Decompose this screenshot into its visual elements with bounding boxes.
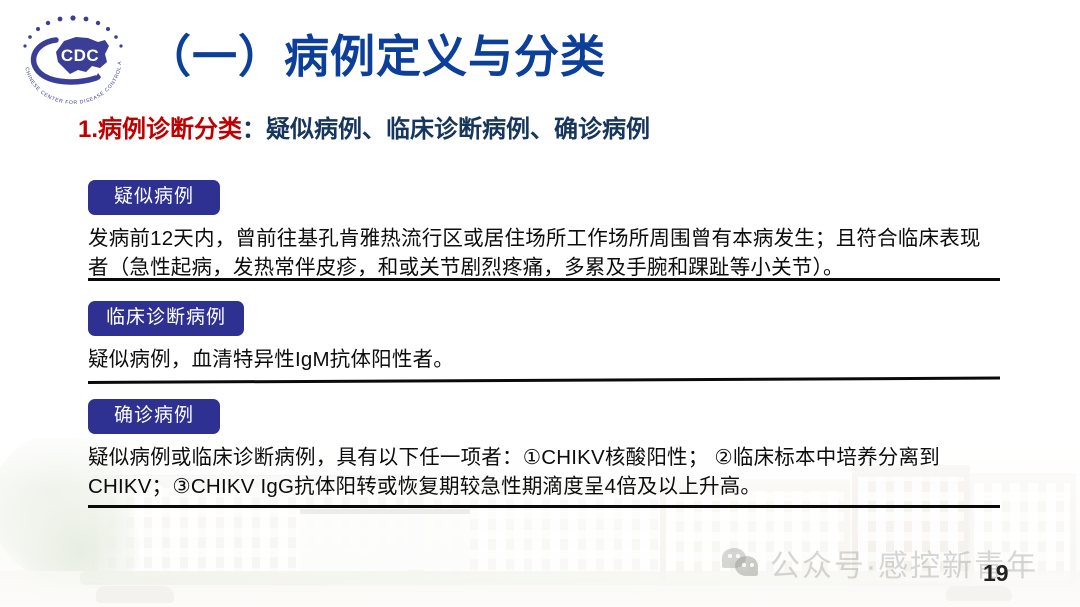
case-block-clinical: 临床诊断病例 疑似病例，血清特异性IgM抗体阳性者。 <box>88 301 1000 374</box>
photo-hedge <box>80 571 900 585</box>
wechat-icon <box>722 547 760 579</box>
subtitle-blue-part: ：疑似病例、临床诊断病例、确诊病例 <box>242 116 650 143</box>
page-number: 19 <box>983 560 1009 587</box>
body-clinical-case: 疑似病例，血清特异性IgM抗体阳性者。 <box>88 345 1000 374</box>
svg-text:CDC: CDC <box>61 46 99 65</box>
photo-entrance-canopy <box>300 509 470 570</box>
subtitle-red-part: 1.病例诊断分类 <box>78 116 242 143</box>
slide: CHINESE CENTER FOR DISEASE CONTROL AND P… <box>0 0 1080 607</box>
china-cdc-logo: CHINESE CENTER FOR DISEASE CONTROL AND P… <box>12 10 134 110</box>
divider-rule-2 <box>88 377 1000 384</box>
divider-rule-3 <box>88 505 1000 508</box>
photo-car-right <box>946 586 1012 601</box>
photo-tree-left-lower <box>20 485 140 607</box>
divider-rule-1 <box>88 278 1000 281</box>
page-title: （一）病例定义与分类 <box>146 32 606 82</box>
body-suspected-case: 发病前12天内，曾前往基孔肯雅热流行区或居住场所工作场所周围曾有本病发生；且符合… <box>88 224 1000 282</box>
case-block-confirmed: 确诊病例 疑似病例或临床诊断病例，具有以下任一项者：①CHIKV核酸阳性； ②临… <box>88 399 1000 501</box>
photo-ground <box>0 571 1080 607</box>
body-confirmed-case: 疑似病例或临床诊断病例，具有以下任一项者：①CHIKV核酸阳性； ②临床标本中培… <box>88 443 1000 501</box>
photo-car-left <box>96 586 174 603</box>
badge-suspected-case: 疑似病例 <box>88 180 220 215</box>
case-block-suspected: 疑似病例 发病前12天内，曾前往基孔肯雅热流行区或居住场所工作场所周围曾有本病发… <box>88 180 1000 282</box>
badge-clinical-case: 临床诊断病例 <box>88 301 244 336</box>
section-subtitle: 1.病例诊断分类：疑似病例、临床诊断病例、确诊病例 <box>78 116 650 145</box>
badge-confirmed-case: 确诊病例 <box>88 399 220 434</box>
